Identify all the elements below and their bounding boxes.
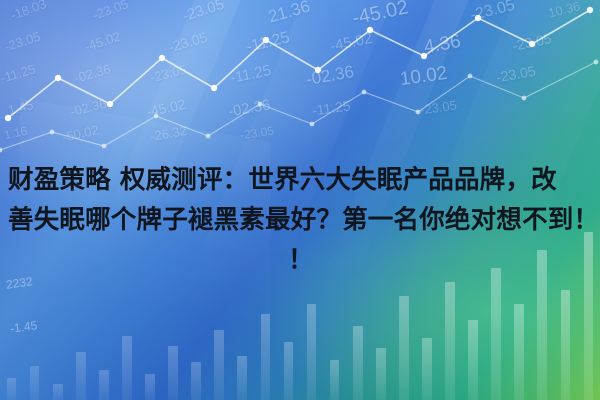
line-node: [310, 122, 315, 127]
line-series: [0, 62, 596, 150]
line-node: [367, 27, 373, 33]
banner-image: -18.03-23.05-23.0521.36-45.02-23.0510.36…: [0, 0, 600, 400]
headline-line-2: 善失眠哪个牌子褪黑素最好？第一名你绝对想不到！: [8, 200, 594, 240]
line-node: [258, 102, 263, 107]
headline-line-3: ！: [8, 240, 594, 280]
line-node: [102, 144, 107, 149]
line-node: [107, 101, 113, 107]
line-node: [362, 90, 367, 95]
line-node: [0, 148, 2, 153]
line-node: [587, 7, 593, 13]
line-node: [5, 115, 11, 121]
line-node: [468, 74, 473, 79]
headline-line-1: 财盈策略 权威测评：世界六大失眠产品品牌，改: [8, 160, 594, 200]
line-node: [159, 55, 165, 61]
line-node: [154, 114, 159, 119]
line-node: [263, 37, 269, 43]
headline: 财盈策略 权威测评：世界六大失眠产品品牌，改 善失眠哪个牌子褪黑素最好？第一名你…: [8, 160, 594, 280]
line-node: [206, 134, 211, 139]
line-node: [522, 96, 527, 101]
line-node: [594, 60, 599, 65]
line-node: [416, 110, 421, 115]
line-node: [55, 75, 61, 81]
line-node: [50, 130, 55, 135]
line-series: [8, 10, 590, 118]
line-node: [421, 53, 427, 59]
line-node: [315, 67, 321, 73]
line-node: [529, 41, 535, 47]
line-node: [475, 15, 481, 21]
line-node: [211, 85, 217, 91]
